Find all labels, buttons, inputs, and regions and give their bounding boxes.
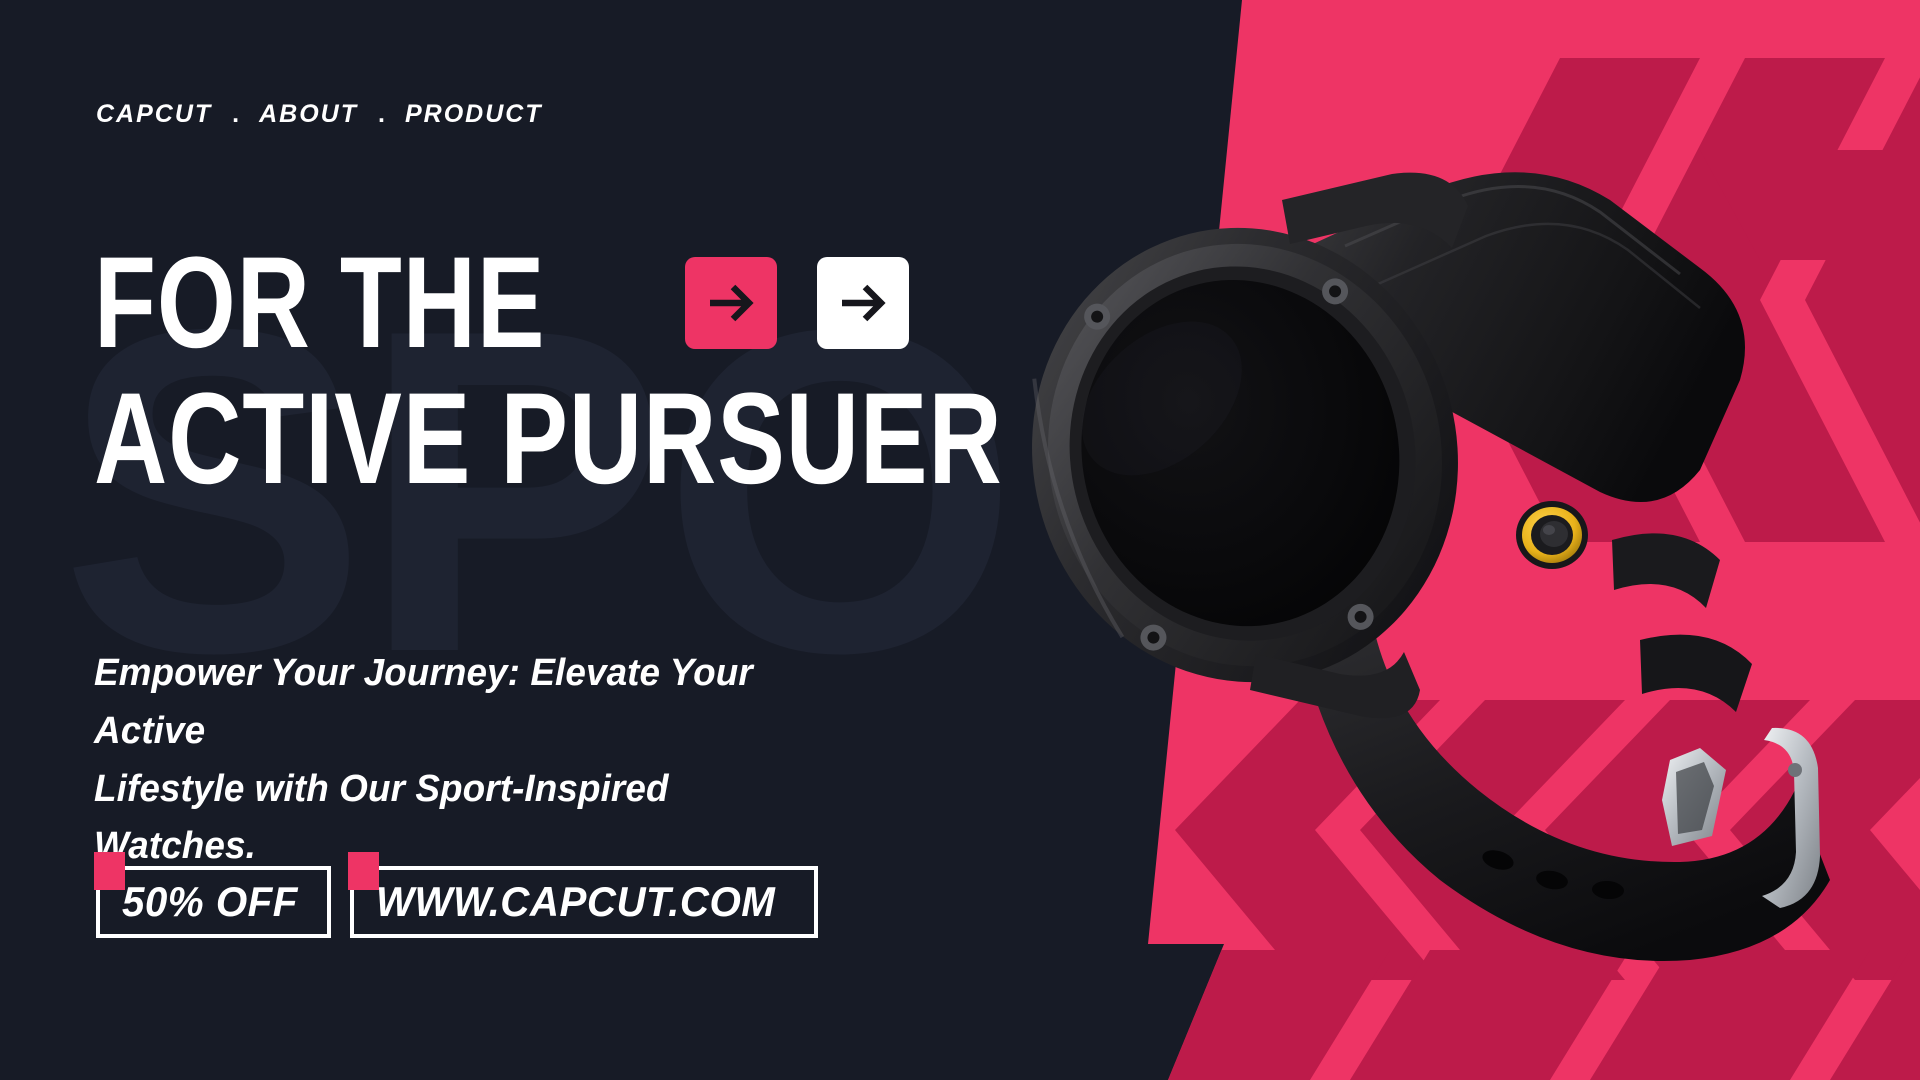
badge-corner-square xyxy=(94,852,125,890)
hero-headline-block: FOR THE ACTIVE xyxy=(94,246,1150,497)
discount-badge-label: 50% OFF xyxy=(122,878,298,926)
website-badge[interactable]: WWW.CAPCUT.COM xyxy=(350,866,818,938)
headline-row-1: FOR THE xyxy=(94,246,1150,360)
promo-banner: SPO xyxy=(0,0,1920,1080)
next-button-primary[interactable] xyxy=(685,257,777,349)
top-navigation[interactable]: CAPCUT . ABOUT . PRODUCT xyxy=(96,100,543,129)
nav-item-about[interactable]: ABOUT xyxy=(259,100,358,129)
bottom-badge-row: 50% OFF WWW.CAPCUT.COM xyxy=(96,866,818,938)
headline-line-2: ACTIVE PURSUER xyxy=(94,377,1003,503)
arrow-right-icon xyxy=(704,276,758,330)
nav-separator: . xyxy=(358,100,405,129)
discount-badge-wrap: 50% OFF xyxy=(96,866,331,938)
website-badge-wrap: WWW.CAPCUT.COM xyxy=(350,866,818,938)
arrow-button-group[interactable] xyxy=(685,257,909,349)
nav-item-product[interactable]: PRODUCT xyxy=(405,100,543,129)
nav-item-capcut[interactable]: CAPCUT xyxy=(96,100,212,129)
badge-corner-square xyxy=(348,852,379,890)
arrow-right-icon xyxy=(836,276,890,330)
headline-line-1: FOR THE xyxy=(94,240,545,366)
next-button-secondary[interactable] xyxy=(817,257,909,349)
nav-separator: . xyxy=(212,100,259,129)
hero-subtitle: Empower Your Journey: Elevate Your Activ… xyxy=(94,645,812,876)
discount-badge[interactable]: 50% OFF xyxy=(96,866,331,938)
subtitle-line-2: Lifestyle with Our Sport-Inspired Watche… xyxy=(94,761,812,877)
subtitle-line-1: Empower Your Journey: Elevate Your Activ… xyxy=(94,645,812,761)
website-badge-label: WWW.CAPCUT.COM xyxy=(376,878,775,926)
